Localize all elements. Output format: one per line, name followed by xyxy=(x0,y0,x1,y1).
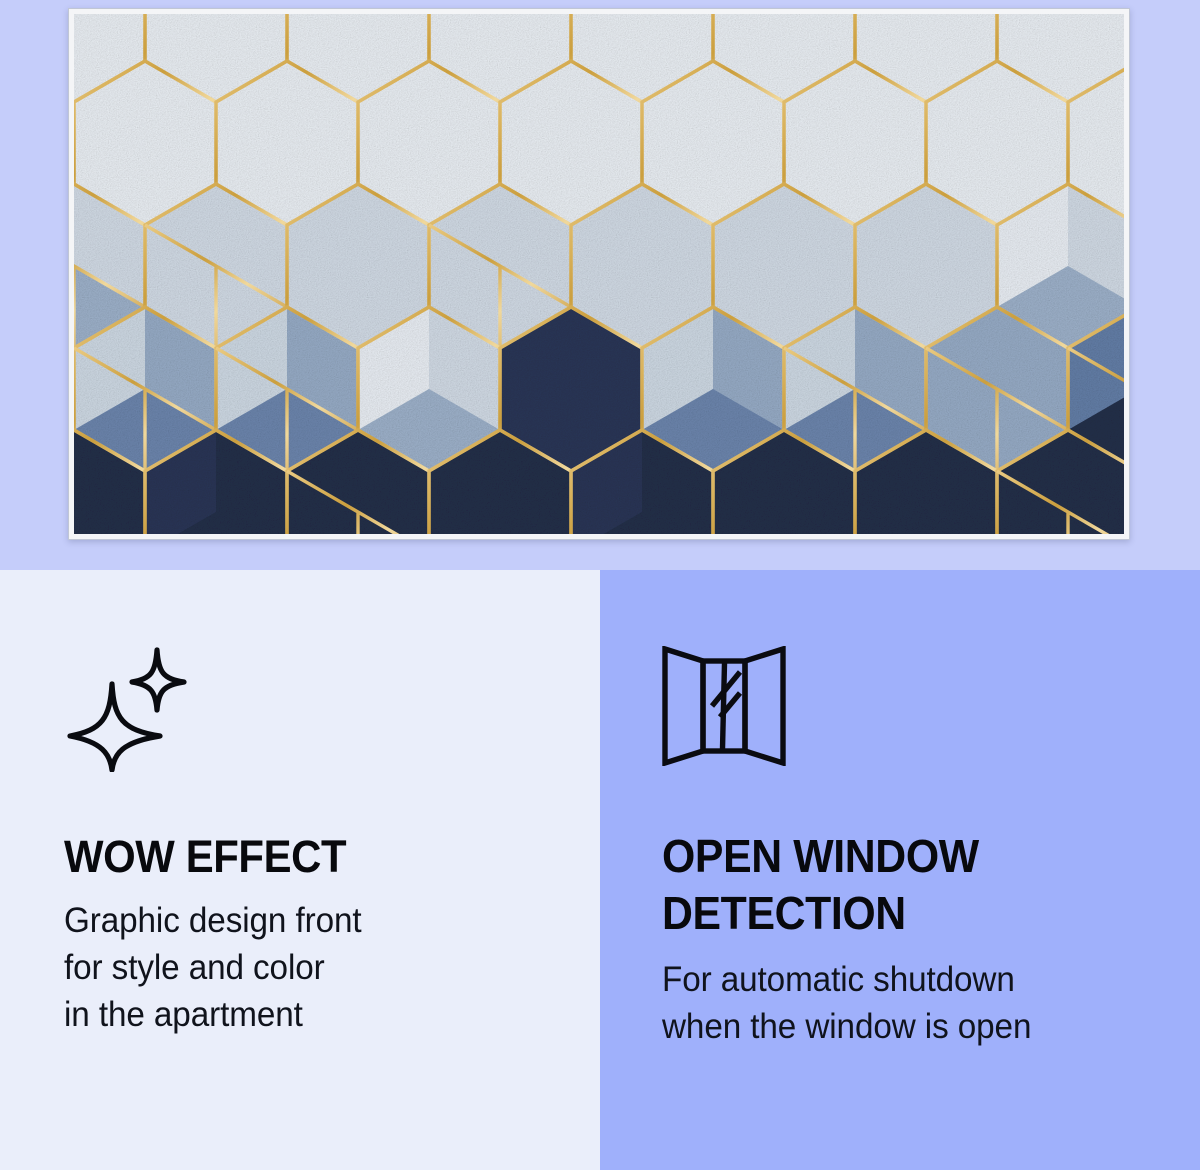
feature-title-open-window-detection: OPEN WINDOW DETECTION xyxy=(662,828,1125,942)
hero-image-band xyxy=(0,0,1200,570)
feature-description-wow-effect: Graphic design front for style and color… xyxy=(64,897,535,1038)
open-window-icon xyxy=(662,646,1160,772)
artwork-frame xyxy=(68,8,1130,540)
artwork-canvas xyxy=(74,14,1124,534)
feature-title-wow-effect: WOW EFFECT xyxy=(64,828,525,885)
feature-card-wow-effect: WOW EFFECT Graphic design front for styl… xyxy=(0,570,600,1170)
feature-card-open-window-detection: OPEN WINDOW DETECTION For automatic shut… xyxy=(600,570,1200,1170)
feature-description-open-window-detection: For automatic shutdown when the window i… xyxy=(662,956,1135,1050)
sparkle-icon xyxy=(64,646,560,772)
product-feature-page: WOW EFFECT Graphic design front for styl… xyxy=(0,0,1200,1170)
feature-panels: WOW EFFECT Graphic design front for styl… xyxy=(0,570,1200,1170)
